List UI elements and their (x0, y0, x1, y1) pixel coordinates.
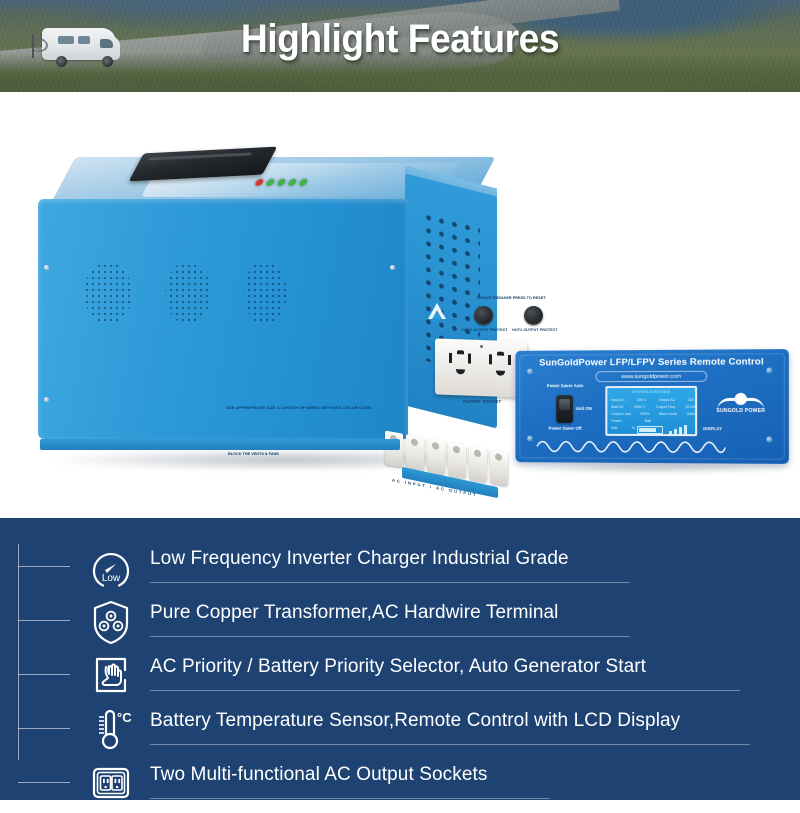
gfci-indicator (480, 345, 483, 348)
output-socket-label: OUTPUT SOCKET (440, 399, 524, 404)
feature-underline (150, 690, 740, 691)
feature-underline (150, 582, 630, 583)
socket-slot (449, 353, 452, 363)
feature-label: AC Priority / Battery Priority Selector,… (150, 656, 646, 678)
bracket-tick (18, 674, 70, 675)
led-indicator (298, 179, 309, 186)
remote-title: SunGoldPower LFP/LFPV Series Remote Cont… (515, 356, 788, 368)
ac-outlet-double-icon (86, 758, 136, 808)
socket-ground (496, 371, 505, 376)
lcd-cell: 000% (640, 412, 649, 416)
inverter-led-indicators (252, 179, 337, 189)
power-saver-off-label: Power Saver Off (541, 426, 590, 432)
remote-control-panel: SunGoldPower LFP/LFPV Series Remote Cont… (515, 349, 788, 464)
thermometer-celsius-icon: °C (86, 704, 136, 754)
shield-copper-transformer-icon (86, 596, 136, 646)
inverter-mounting-foot (40, 439, 400, 450)
ac-output-socket[interactable] (435, 338, 527, 397)
terminal (406, 434, 424, 471)
lcd-cell: Batt (645, 419, 651, 423)
feature-label: Low Frequency Inverter Charger Industria… (150, 548, 569, 570)
feature-underline (150, 744, 750, 745)
lcd-battery-fill (639, 428, 656, 432)
remote-screw (766, 367, 772, 373)
terminal-screw (432, 442, 439, 450)
bracket-tick (18, 728, 70, 729)
socket-slot (489, 354, 492, 364)
terminal (427, 438, 445, 475)
breaker-label-hot1: HOT1 OUTPUT PROTECT (462, 328, 508, 333)
feature-label: Pure Copper Transformer,AC Hardwire Term… (150, 602, 558, 624)
lcd-row: Power Batt (611, 419, 651, 423)
led-indicator (287, 179, 298, 186)
lcd-cell: Output AC (659, 398, 676, 402)
lcd-cell: Output Freq (656, 405, 675, 409)
lcd-cell: Output Load (611, 412, 631, 416)
terminal-screw (411, 438, 418, 446)
case-screw (44, 265, 49, 270)
lcd-row: Output Load 000% Work mode Online (611, 412, 697, 416)
gauge-low-label: Low (86, 573, 136, 584)
lcd-cell: Work mode (659, 412, 677, 416)
lcd-bar (679, 427, 682, 434)
rocker-knob (559, 399, 570, 410)
power-saver-toggle-switch[interactable] (556, 395, 573, 423)
lcd-cell: Power (611, 419, 621, 423)
feature-row-low-frequency: Low Low Frequency Inverter Charger Indus… (0, 540, 800, 594)
terminal (469, 445, 487, 482)
product-highlight-page: Highlight Features (0, 0, 800, 800)
terminal (448, 442, 466, 479)
lcd-battery-indicator (637, 426, 663, 434)
gauge-low-frequency-icon: Low (86, 542, 136, 592)
lcd-cell: Batt DC (611, 405, 623, 409)
case-screw (390, 265, 395, 270)
socket-top-slot (497, 352, 504, 356)
led-indicator (276, 179, 287, 186)
terminal-screw (474, 449, 481, 457)
remote-url-badge: www.sungoldpower.com (595, 371, 707, 382)
feature-row-ac-priority-selector: AC Priority / Battery Priority Selector,… (0, 648, 800, 702)
lcd-row: Batt % (611, 426, 635, 430)
feature-row-copper-transformer: Pure Copper Transformer,AC Hardwire Term… (0, 594, 800, 648)
page-title: Highlight Features (28, 17, 772, 62)
power-saver-auto-label: Power Saver Auto (541, 383, 590, 389)
lcd-bar (684, 425, 687, 434)
logo-text: SUNGOLD POWER (709, 408, 772, 414)
lcd-cell: 000 V (637, 398, 646, 402)
remote-shadow (520, 462, 782, 474)
feature-underline (150, 798, 550, 799)
lcd-display: SYSTEM OVERVIEW Input AC 000 V Output AC… (605, 386, 697, 436)
bracket-tick (18, 782, 70, 783)
socket-slot (468, 354, 471, 364)
lcd-row: Input AC 000 V Output AC 000 V (611, 398, 697, 402)
header-banner: Highlight Features (0, 0, 800, 92)
product-photo-area: CIRCUIT BREAKER PRESS TO RESET HOT1 OUTP… (0, 92, 800, 518)
lcd-cell: Input AC (611, 398, 625, 402)
socket-slot (508, 355, 511, 365)
lcd-bar (669, 431, 672, 434)
terminal (490, 449, 508, 486)
bracket-tick (18, 566, 70, 567)
remote-screw (527, 436, 533, 442)
remote-screw (766, 436, 772, 442)
remote-screw (527, 369, 533, 375)
features-panel: Low Low Frequency Inverter Charger Indus… (0, 518, 800, 800)
celsius-label: °C (117, 710, 132, 725)
lcd-bar (674, 429, 677, 434)
feature-row-ac-output-sockets: Two Multi-functional AC Output Sockets (0, 756, 800, 810)
breaker-label-hot2: HOT2 OUTPUT PROTECT (512, 328, 558, 333)
socket-ground (456, 369, 465, 374)
wire-note-label: USE APPROPRIATE SIZE & LENGTH OF WIRES W… (226, 405, 526, 410)
unit-on-label: Unit ON (576, 406, 604, 412)
inverter-sgp-vent-emboss (60, 227, 310, 362)
lcd-cell: 000 V (688, 398, 697, 402)
circuit-breaker-button-hot1[interactable] (474, 306, 493, 325)
lcd-cell: Batt (611, 426, 617, 430)
socket-face (485, 350, 517, 387)
lcd-cell: 00.0Hz (686, 405, 697, 409)
sine-wave-graphic (537, 438, 726, 457)
bracket-tick (18, 620, 70, 621)
terminal-screw (495, 453, 502, 461)
lcd-row: Batt DC 0000 V Output Freq 00.0Hz (611, 405, 697, 409)
lcd-cell: % (632, 426, 635, 430)
lcd-cell: Online (687, 412, 697, 416)
hand-selector-icon (86, 650, 136, 700)
case-screw (44, 397, 49, 402)
sungold-power-logo: SUNGOLD POWER (709, 390, 772, 418)
lcd-signal-bars (669, 424, 691, 434)
socket-face (445, 349, 477, 386)
inverter-unit: CIRCUIT BREAKER PRESS TO RESET HOT1 OUTP… (30, 147, 505, 497)
lcd-title: SYSTEM OVERVIEW (607, 390, 695, 394)
display-label: DISPLAY (703, 426, 722, 431)
led-indicator (265, 179, 276, 186)
feature-label: Two Multi-functional AC Output Sockets (150, 764, 488, 786)
circuit-breaker-button-hot2[interactable] (524, 306, 543, 325)
feature-underline (150, 636, 630, 637)
terminal-screw (453, 446, 460, 454)
lcd-cell: 0000 V (634, 405, 645, 409)
feature-label: Battery Temperature Sensor,Remote Contro… (150, 710, 680, 732)
feature-row-battery-temp-sensor: °C Battery Temperature Sensor,Remote Con… (0, 702, 800, 756)
socket-top-slot (457, 350, 464, 354)
circuit-breaker-title: CIRCUIT BREAKER PRESS TO RESET (466, 296, 556, 301)
